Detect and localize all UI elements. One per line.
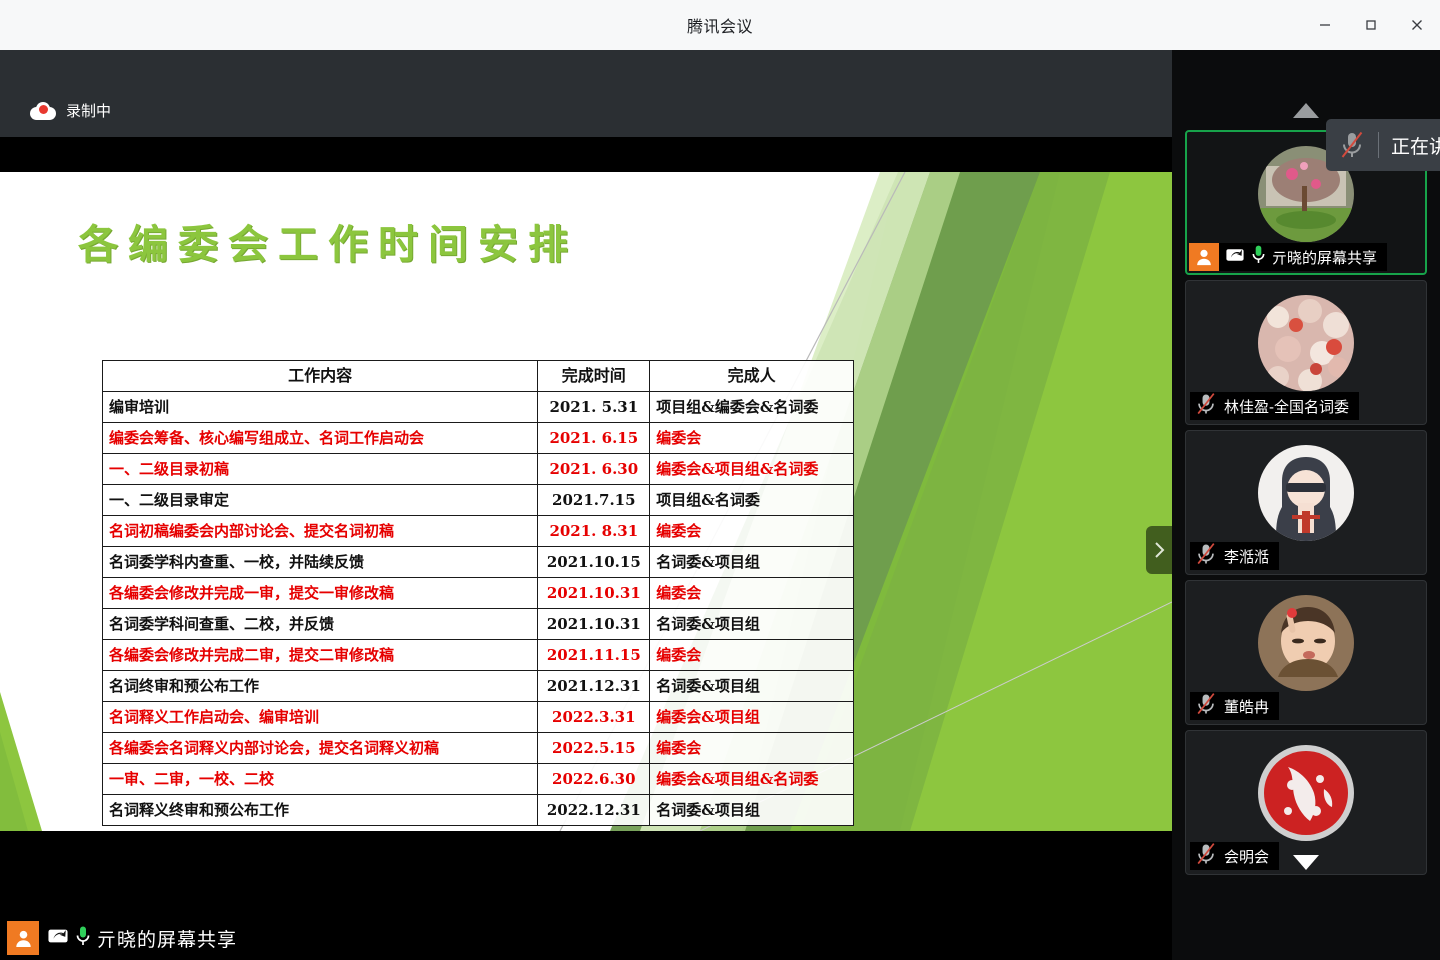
cell-date: 2022.6.30 <box>538 764 650 795</box>
participant-name-bar: 董皓冉 <box>1190 692 1279 720</box>
cell-date: 2021.7.15 <box>538 485 650 516</box>
avatar <box>1258 745 1354 841</box>
cell-date: 2022.5.15 <box>538 733 650 764</box>
table-row: 编审培训2021. 5.31项目组&编委会&名词委 <box>103 392 854 423</box>
table-row: 名词初稿编委会内部讨论会、提交名词初稿2021. 8.31编委会 <box>103 516 854 547</box>
participant-tile[interactable]: 李湉湉 <box>1185 430 1427 575</box>
person-icon <box>1189 243 1219 271</box>
cell-owner: 项目组&编委会&名词委 <box>650 392 854 423</box>
cell-date: 2021.11.15 <box>538 640 650 671</box>
cell-task: 编委会筹备、核心编写组成立、名词工作启动会 <box>103 423 538 454</box>
cell-owner: 编委会 <box>650 578 854 609</box>
cell-owner: 项目组&名词委 <box>650 485 854 516</box>
table-row: 一审、二审，一校、二校2022.6.30编委会&项目组&名词委 <box>103 764 854 795</box>
cell-task: 名词委学科内查重、一校，并陆续反馈 <box>103 547 538 578</box>
header-task: 工作内容 <box>103 361 538 392</box>
table-row: 各编委会修改并完成二审，提交二审修改稿2021.11.15编委会 <box>103 640 854 671</box>
minimize-button[interactable] <box>1302 0 1348 50</box>
cell-date: 2021.12.31 <box>538 671 650 702</box>
close-button[interactable] <box>1394 0 1440 50</box>
cell-owner: 名词委&项目组 <box>650 547 854 578</box>
table-row: 各编委会修改并完成一审，提交一审修改稿2021.10.31编委会 <box>103 578 854 609</box>
participants-panel: 亓晓的屏幕共享林佳盈-全国名词委李湉湉董皓冉会明会 <box>1172 50 1440 960</box>
cell-task: 名词释义终审和预公布工作 <box>103 795 538 826</box>
window-titlebar: 腾讯会议 <box>0 0 1440 50</box>
cell-date: 2021. 8.31 <box>538 516 650 547</box>
avatar <box>1258 595 1354 691</box>
scroll-down-button[interactable] <box>1172 845 1440 879</box>
presentation-slide: 各编委会工作时间安排 工作内容 完成时间 完成人 编审培训2021. 5.31项… <box>0 172 1172 831</box>
microphone-muted-icon <box>1194 391 1218 422</box>
person-icon <box>7 921 39 955</box>
table-row: 名词释义工作启动会、编审培训2022.3.31编委会&项目组 <box>103 702 854 733</box>
speaking-tooltip: 正在讲 <box>1326 119 1440 171</box>
cell-task: 各编委会修改并完成一审，提交一审修改稿 <box>103 578 538 609</box>
microphone-muted-icon <box>1194 541 1218 572</box>
recording-bar: 录制中 <box>0 50 1172 137</box>
cell-date: 2022.12.31 <box>538 795 650 826</box>
cell-date: 2021.10.31 <box>538 578 650 609</box>
participant-name: 董皓冉 <box>1224 696 1269 717</box>
cell-date: 2021.10.31 <box>538 609 650 640</box>
microphone-on-icon <box>75 925 91 952</box>
triangle-down-icon <box>1293 855 1319 870</box>
screen-share-status-bar: 亓晓的屏幕共享 <box>7 921 249 955</box>
table-row: 一、二级目录初稿2021. 6.30编委会&项目组&名词委 <box>103 454 854 485</box>
microphone-on-icon <box>1251 244 1266 270</box>
participant-name: 亓晓的屏幕共享 <box>1272 247 1377 268</box>
avatar <box>1258 445 1354 541</box>
cell-owner: 名词委&项目组 <box>650 609 854 640</box>
cell-task: 名词终审和预公布工作 <box>103 671 538 702</box>
cell-task: 各编委会修改并完成二审，提交二审修改稿 <box>103 640 538 671</box>
cell-task: 名词委学科间查重、二校，并反馈 <box>103 609 538 640</box>
cell-owner: 编委会&项目组&名词委 <box>650 764 854 795</box>
cell-task: 一、二级目录初稿 <box>103 454 538 485</box>
cell-owner: 编委会 <box>650 733 854 764</box>
cell-task: 名词初稿编委会内部讨论会、提交名词初稿 <box>103 516 538 547</box>
chevron-right-icon[interactable] <box>1146 526 1172 574</box>
speaking-tooltip-text: 正在讲 <box>1379 132 1440 159</box>
cloud-record-icon <box>30 102 56 120</box>
table-row: 名词终审和预公布工作2021.12.31名词委&项目组 <box>103 671 854 702</box>
shared-screen-stage: 录制中 各编委会工作时间安排 工作内容 完成时间 完成人 <box>0 50 1172 960</box>
app-title: 腾讯会议 <box>687 13 753 37</box>
recording-label: 录制中 <box>66 100 111 121</box>
participant-tile[interactable]: 董皓冉 <box>1185 580 1427 725</box>
work-schedule-table: 工作内容 完成时间 完成人 编审培训2021. 5.31项目组&编委会&名词委编… <box>102 360 854 826</box>
table-row: 编委会筹备、核心编写组成立、名词工作启动会2021. 6.15编委会 <box>103 423 854 454</box>
participant-name: 李湉湉 <box>1224 546 1269 567</box>
table-row: 一、二级目录审定2021.7.15项目组&名词委 <box>103 485 854 516</box>
cell-owner: 编委会 <box>650 423 854 454</box>
slide-title: 各编委会工作时间安排 <box>78 212 578 270</box>
header-owner: 完成人 <box>650 361 854 392</box>
cell-date: 2021. 5.31 <box>538 392 650 423</box>
cell-task: 编审培训 <box>103 392 538 423</box>
header-date: 完成时间 <box>538 361 650 392</box>
cell-task: 一、二级目录审定 <box>103 485 538 516</box>
triangle-up-icon <box>1293 103 1319 118</box>
cell-task: 各编委会名词释义内部讨论会，提交名词释义初稿 <box>103 733 538 764</box>
screen-share-icon <box>1225 246 1245 269</box>
cell-date: 2021.10.15 <box>538 547 650 578</box>
share-bar-name: 亓晓的屏幕共享 <box>97 925 249 952</box>
cell-date: 2021. 6.15 <box>538 423 650 454</box>
cell-task: 名词释义工作启动会、编审培训 <box>103 702 538 733</box>
cell-task: 一审、二审，一校、二校 <box>103 764 538 795</box>
cell-owner: 编委会 <box>650 640 854 671</box>
cell-owner: 名词委&项目组 <box>650 795 854 826</box>
table-row: 名词委学科内查重、一校，并陆续反馈2021.10.15名词委&项目组 <box>103 547 854 578</box>
table-row: 名词委学科间查重、二校，并反馈2021.10.31名词委&项目组 <box>103 609 854 640</box>
participant-name-bar: 亓晓的屏幕共享 <box>1189 243 1387 271</box>
participant-name-bar: 林佳盈-全国名词委 <box>1190 392 1359 420</box>
participant-tile[interactable]: 林佳盈-全国名词委 <box>1185 280 1427 425</box>
table-row: 各编委会名词释义内部讨论会，提交名词释义初稿2022.5.15编委会 <box>103 733 854 764</box>
microphone-muted-icon <box>1194 691 1218 722</box>
cell-owner: 编委会 <box>650 516 854 547</box>
table-header-row: 工作内容 完成时间 完成人 <box>103 361 854 392</box>
cell-date: 2022.3.31 <box>538 702 650 733</box>
cell-owner: 名词委&项目组 <box>650 671 854 702</box>
maximize-button[interactable] <box>1348 0 1394 50</box>
cell-date: 2021. 6.30 <box>538 454 650 485</box>
table-row: 名词释义终审和预公布工作2022.12.31名词委&项目组 <box>103 795 854 826</box>
participant-name-bar: 李湉湉 <box>1190 542 1279 570</box>
cell-owner: 编委会&项目组&名词委 <box>650 454 854 485</box>
avatar <box>1258 295 1354 391</box>
screen-share-icon <box>47 926 69 951</box>
window-controls <box>1302 0 1440 50</box>
cell-owner: 编委会&项目组 <box>650 702 854 733</box>
participant-name: 林佳盈-全国名词委 <box>1224 396 1349 417</box>
microphone-muted-icon <box>1326 130 1378 160</box>
